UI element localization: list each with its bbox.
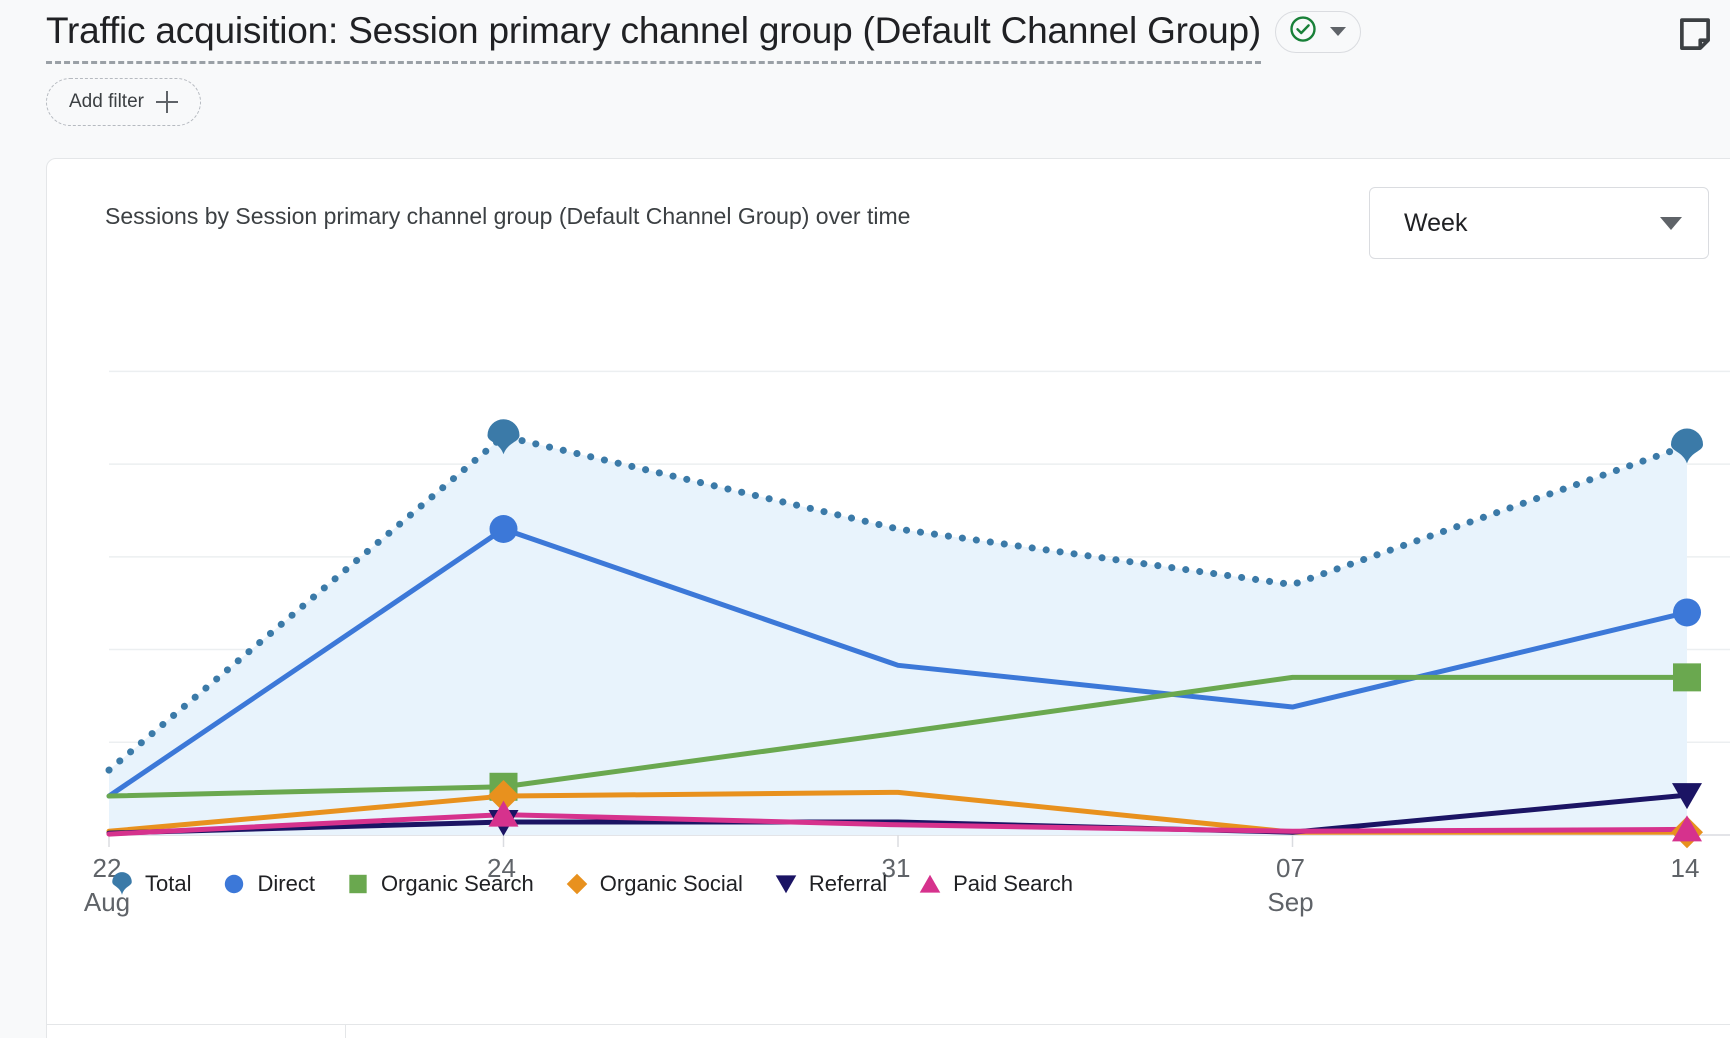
report-page: Traffic acquisition: Session primary cha…: [0, 0, 1730, 1038]
x-axis-tick-label: 07: [1276, 853, 1305, 883]
chart-svg: 1234522Aug243107Sep14: [47, 263, 1730, 963]
report-status-pill[interactable]: [1275, 11, 1361, 53]
legend-label: Paid Search: [953, 871, 1073, 897]
check-circle-icon: [1288, 14, 1318, 49]
table-column-separator: [345, 1024, 346, 1038]
chart-card: Sessions by Session primary channel grou…: [46, 158, 1730, 1038]
card-divider: [47, 1024, 1730, 1025]
page-header: Traffic acquisition: Session primary cha…: [0, 0, 1730, 150]
datapoint-direct-24[interactable]: [490, 515, 518, 543]
circle-marker-icon: [221, 871, 247, 897]
square-marker-icon: [345, 871, 371, 897]
legend-label: Direct: [257, 871, 314, 897]
triangle-down-icon: [1660, 217, 1682, 230]
triangle-up-marker-icon: [917, 871, 943, 897]
granularity-value: Week: [1404, 209, 1467, 238]
datapoint-organic-search-14[interactable]: [1673, 663, 1701, 691]
chevron-down-icon[interactable]: [1330, 27, 1346, 36]
x-axis-tick-label: 14: [1671, 853, 1700, 883]
granularity-select[interactable]: Week: [1369, 187, 1709, 259]
add-filter-label: Add filter: [69, 91, 144, 113]
legend-label: Referral: [809, 871, 887, 897]
title-row: Traffic acquisition: Session primary cha…: [46, 10, 1361, 64]
pin-marker-icon: [109, 871, 135, 897]
datapoint-direct-14[interactable]: [1673, 598, 1701, 626]
legend-item-direct[interactable]: Direct: [221, 871, 314, 897]
x-axis-month-label: Sep: [1267, 887, 1313, 917]
triangle-down-marker-icon: [773, 871, 799, 897]
time-series-chart[interactable]: 1234522Aug243107Sep14: [47, 263, 1730, 963]
legend-label: Organic Search: [381, 871, 534, 897]
legend-item-paid-search[interactable]: Paid Search: [917, 871, 1073, 897]
legend-label: Total: [145, 871, 191, 897]
legend-item-referral[interactable]: Referral: [773, 871, 887, 897]
page-title: Traffic acquisition: Session primary cha…: [46, 10, 1261, 64]
plus-icon: [156, 91, 178, 113]
note-icon[interactable]: [1674, 14, 1716, 61]
chart-title: Sessions by Session primary channel grou…: [105, 203, 910, 230]
legend-item-organic-social[interactable]: Organic Social: [564, 871, 743, 897]
legend-item-total[interactable]: Total: [109, 871, 191, 897]
diamond-marker-icon: [564, 871, 590, 897]
chart-legend: TotalDirectOrganic SearchOrganic SocialR…: [109, 871, 1103, 897]
add-filter-button[interactable]: Add filter: [46, 78, 201, 126]
legend-label: Organic Social: [600, 871, 743, 897]
legend-item-organic-search[interactable]: Organic Search: [345, 871, 534, 897]
